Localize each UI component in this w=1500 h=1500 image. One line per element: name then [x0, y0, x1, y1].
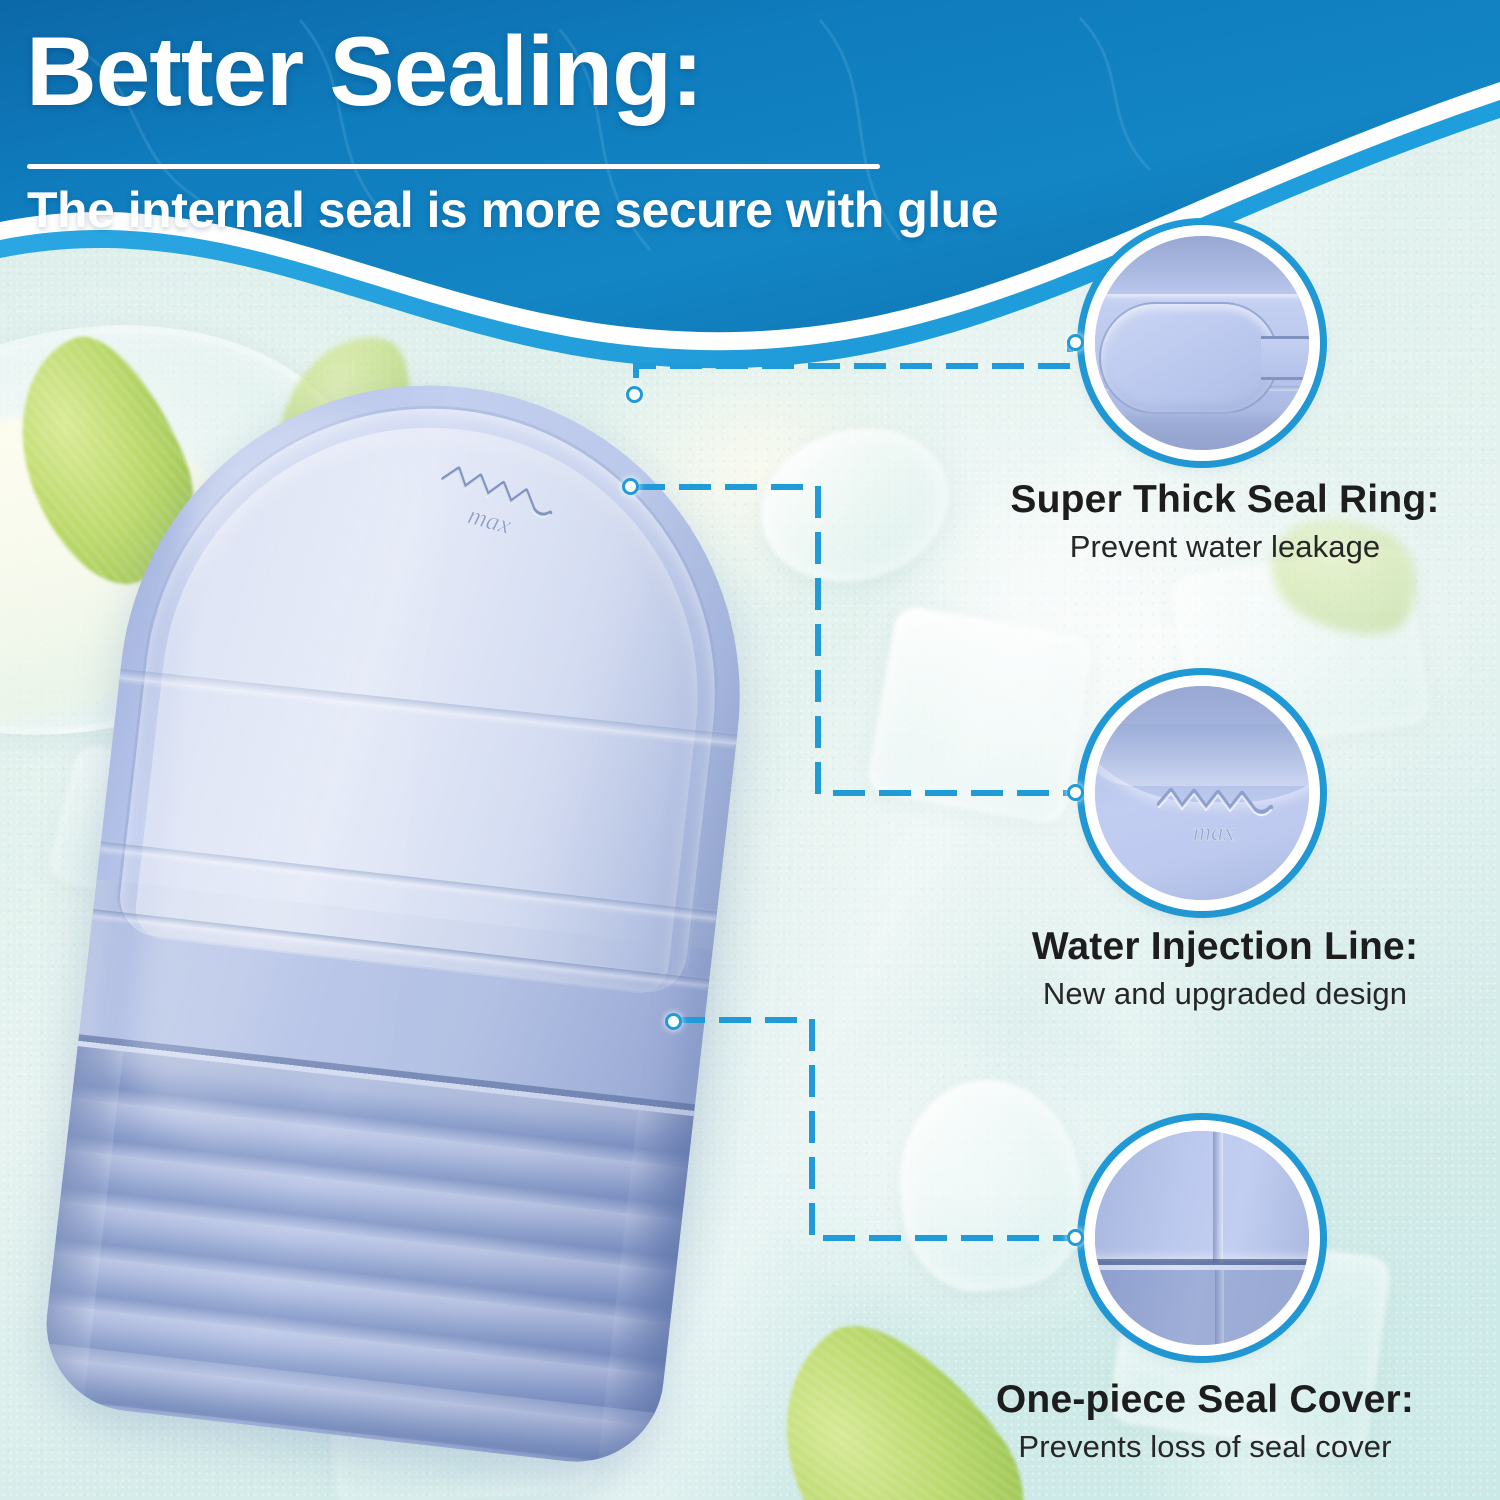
seal-plug-icon	[1095, 236, 1309, 450]
callout-label-seal-ring: Super Thick Seal Ring: Prevent water lea…	[955, 478, 1495, 564]
callout-max-label: max	[1193, 819, 1235, 846]
connector-dot-product-seam	[665, 1013, 682, 1030]
connector-dot-product-max-line	[622, 478, 639, 495]
callout-label-water-injection-line: Water Injection Line: New and upgraded d…	[955, 925, 1495, 1011]
product-feature-infographic: max	[0, 0, 1500, 1500]
callout-subtitle-3: Prevents loss of seal cover	[935, 1429, 1475, 1465]
callout-subtitle-1: Prevent water leakage	[955, 529, 1495, 565]
callout-subtitle-2: New and upgraded design	[955, 976, 1495, 1012]
callout-label-seal-cover: One-piece Seal Cover: Prevents loss of s…	[935, 1378, 1475, 1464]
page-title: Better Sealing:	[26, 20, 703, 123]
product-max-label: max	[465, 500, 515, 540]
seam-joint-icon	[1095, 1131, 1309, 1345]
callout-circle-water-injection-line[interactable]: max	[1077, 668, 1327, 918]
callout-ring	[1084, 1120, 1320, 1356]
callout-circle-seal-ring[interactable]	[1077, 218, 1327, 468]
max-wave-mark-icon: max	[1095, 686, 1309, 900]
connector-dot-callout-1	[1067, 334, 1084, 351]
callout-circle-seal-cover[interactable]	[1077, 1113, 1327, 1363]
connector-dot-callout-2	[1067, 784, 1084, 801]
connector-dot-product-top	[626, 386, 643, 403]
connector-dot-callout-3	[1067, 1229, 1084, 1246]
callout-ring: max	[1084, 675, 1320, 911]
callout-title-1: Super Thick Seal Ring:	[955, 478, 1495, 522]
callout-ring	[1084, 225, 1320, 461]
product-image-silicone-water-bottle: max	[0, 330, 874, 1500]
product-body	[37, 353, 772, 1471]
page-subtitle: The internal seal is more secure with gl…	[27, 181, 998, 239]
callout-title-2: Water Injection Line:	[955, 925, 1495, 969]
callout-title-3: One-piece Seal Cover:	[935, 1378, 1475, 1422]
product-highlight	[118, 392, 452, 1175]
title-divider	[27, 164, 880, 169]
